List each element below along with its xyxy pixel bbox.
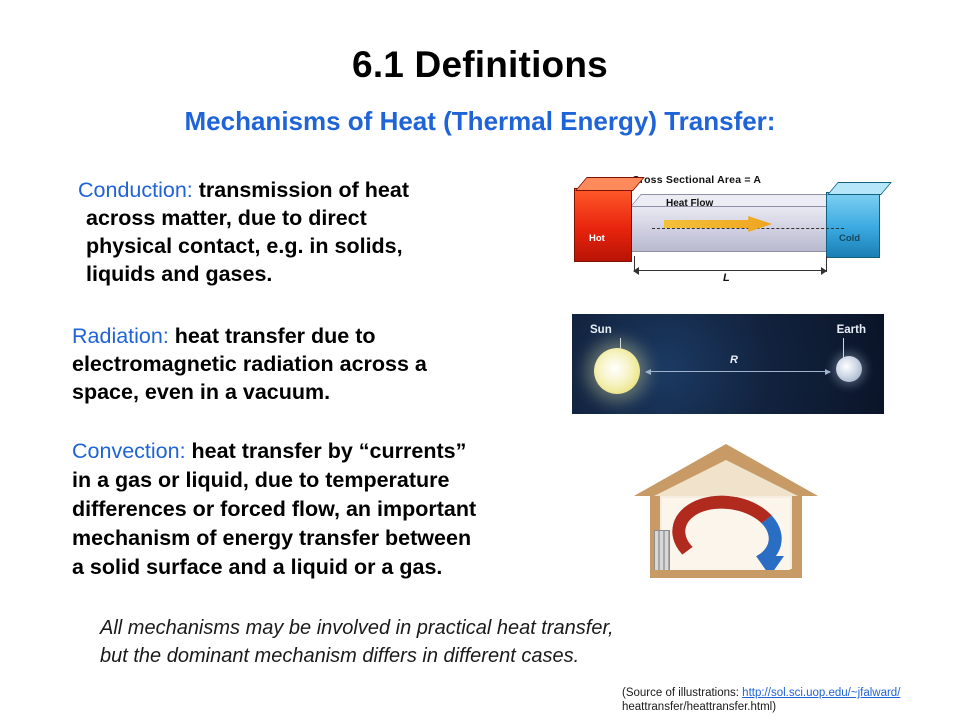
hot-block: Hot [574,188,632,262]
conduction-text-1: transmission of heat [193,178,409,202]
summary-note: All mechanisms may be involved in practi… [100,614,750,670]
hot-block-top-face [575,177,645,191]
radiation-line-2: electromagnetic radiation across a [72,350,552,378]
convection-line-1: Convection: heat transfer by “currents” [72,437,592,466]
conducting-bar [630,206,832,252]
radiation-line-3: space, even in a vacuum. [72,378,552,406]
conduction-line-4: liquids and gases. [78,260,548,288]
length-label: L [723,272,730,284]
cold-label: Cold [839,233,860,244]
conduction-definition: Conduction: transmission of heat across … [78,176,548,288]
radiator-icon [654,530,670,572]
distance-line [646,371,830,372]
radiation-line-1: Radiation: heat transfer due to [72,322,552,350]
radiation-text-1: heat transfer due to [169,324,376,348]
cold-block: Cold [826,192,880,258]
radiation-definition: Radiation: heat transfer due to electrom… [72,322,552,406]
center-dashed-line [652,228,844,229]
convection-line-2: in a gas or liquid, due to temperature [72,466,592,495]
convection-illustration [628,444,824,594]
source-credit: (Source of illustrations: http://sol.sci… [622,686,952,714]
cold-block-top-face [827,182,892,195]
source-credit-line-2: heattransfer/heattransfer.html) [622,700,952,714]
house-floor [650,570,802,578]
earth-label: Earth [837,324,866,336]
source-link[interactable]: http://sol.sci.uop.edu/~jfalward/ [742,687,900,699]
radiation-keyword: Radiation: [72,324,169,348]
source-credit-prefix: (Source of illustrations: [622,687,742,699]
radiation-illustration: Sun Earth R [572,314,884,414]
convection-keyword: Convection: [72,439,186,463]
earth-icon [836,356,862,382]
page-title: 6.1 Definitions [0,44,960,86]
house-roof-inner [650,460,802,498]
cross-sectional-area-label: Cross Sectional Area = A [632,174,761,186]
summary-note-line-1: All mechanisms may be involved in practi… [100,614,750,642]
slide-canvas: 6.1 Definitions Mechanisms of Heat (Ther… [0,0,960,720]
convection-text-1: heat transfer by “currents” [186,439,467,463]
convection-line-4: mechanism of energy transfer between [72,524,592,553]
summary-note-line-2: but the dominant mechanism differs in di… [100,642,750,670]
heat-flow-label: Heat Flow [666,198,713,209]
conduction-line-1: Conduction: transmission of heat [78,176,548,204]
distance-label: R [730,354,738,366]
conduction-line-2: across matter, due to direct [78,204,548,232]
conduction-line-3: physical contact, e.g. in solids, [78,232,548,260]
conduction-keyword: Conduction: [78,178,193,202]
convection-line-3: differences or forced flow, an important [72,495,592,524]
length-dimension-line [634,270,826,271]
hot-label: Hot [589,233,605,244]
conduction-illustration: Cross Sectional Area = A Hot Cold Heat F… [568,172,898,290]
sun-icon [594,348,640,394]
source-credit-line-1: (Source of illustrations: http://sol.sci… [622,686,952,700]
convection-definition: Convection: heat transfer by “currents” … [72,437,592,582]
sun-label: Sun [590,324,612,336]
slide-subtitle: Mechanisms of Heat (Thermal Energy) Tran… [0,106,960,137]
convection-line-5: a solid surface and a liquid or a gas. [72,553,592,582]
